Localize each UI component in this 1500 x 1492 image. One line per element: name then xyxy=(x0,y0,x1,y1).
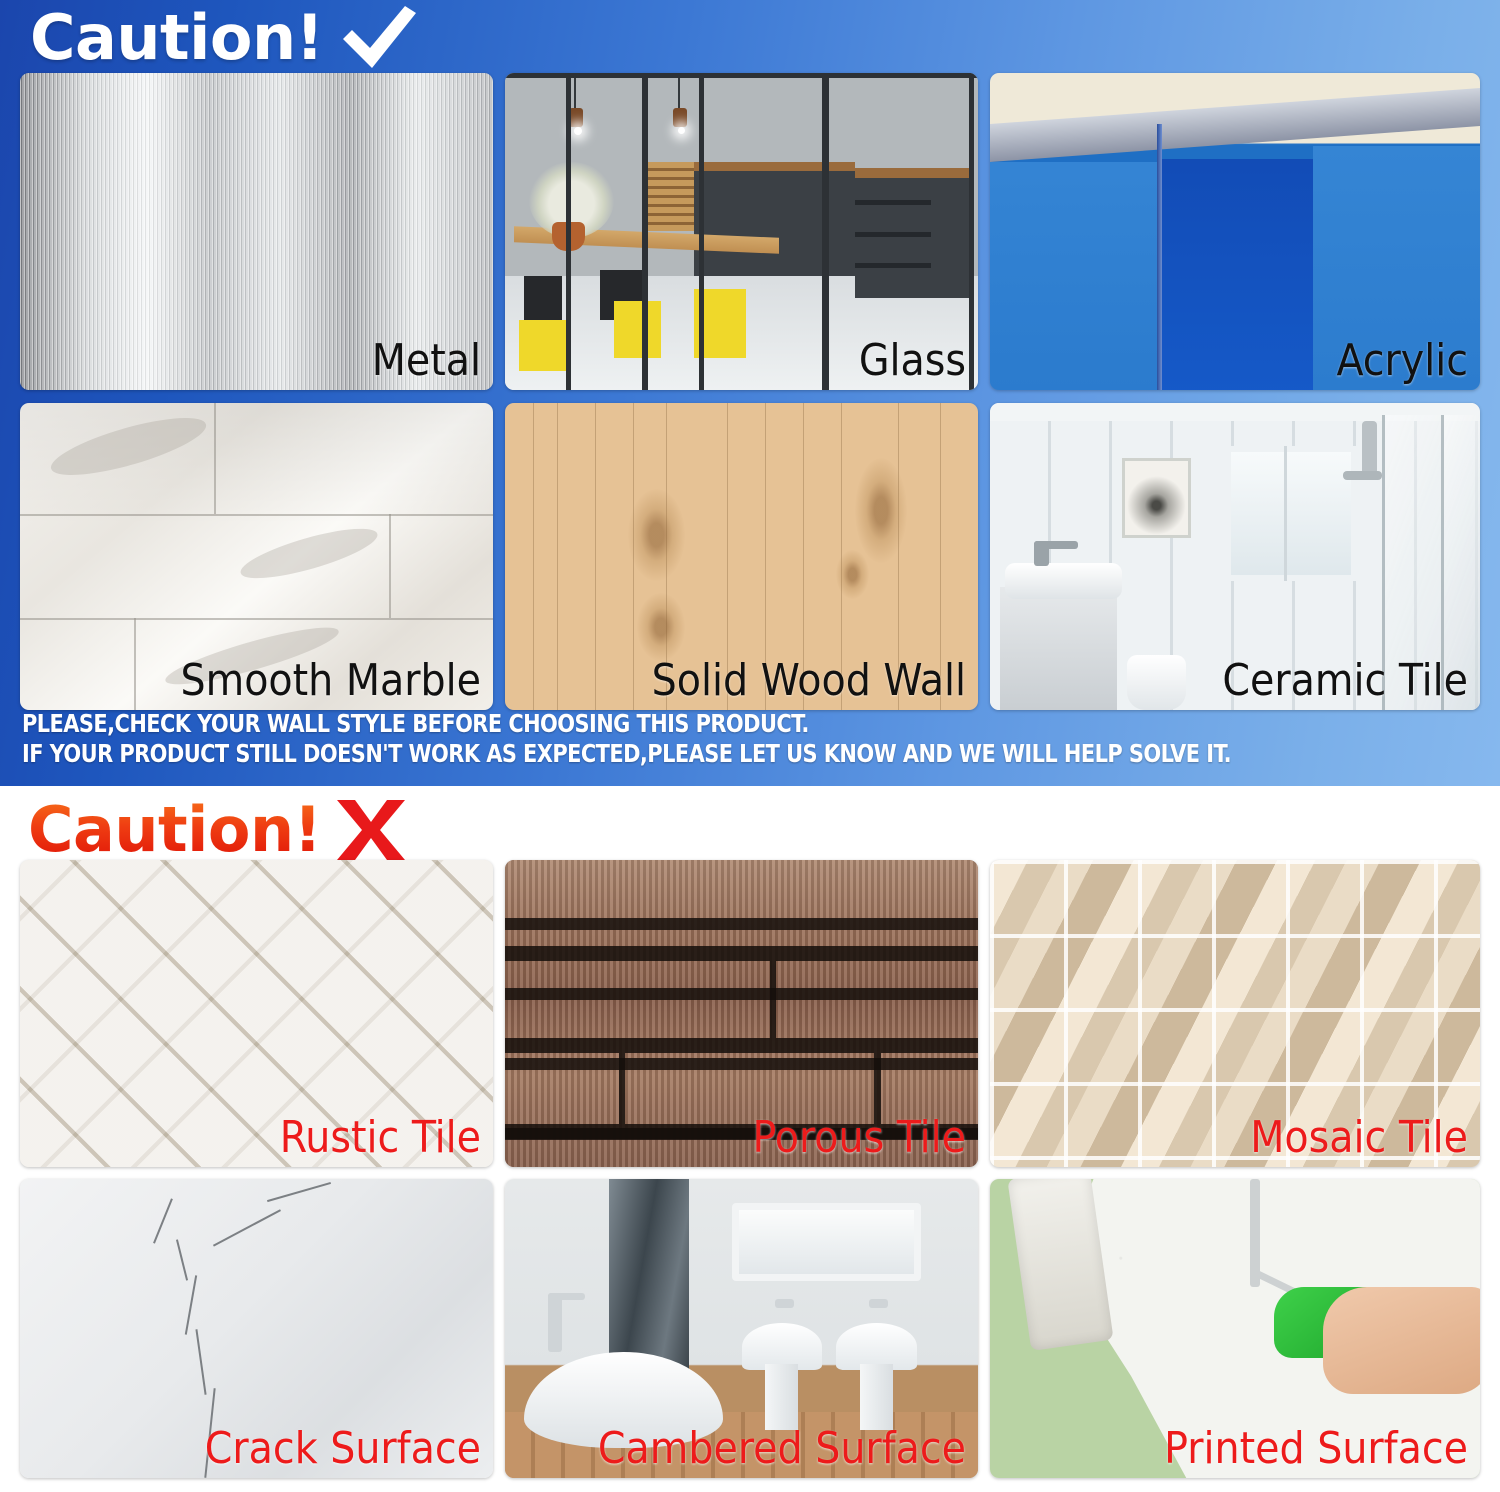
surface-label-porous-tile: Porous Tile xyxy=(753,1111,967,1165)
not-recommended-heading-text: Caution! xyxy=(28,796,321,864)
surface-label-glass: Glass xyxy=(859,334,966,388)
check-mark-icon xyxy=(339,6,417,70)
surface-label-cambered-surface: Cambered Surface xyxy=(598,1422,966,1476)
not-recommended-surfaces-section: Caution! Rustic Tile xyxy=(0,786,1500,1492)
recommended-heading-text: Caution! xyxy=(30,4,323,72)
surface-label-ceramic-tile: Ceramic Tile xyxy=(1222,654,1468,708)
recommended-tile-grid: Metal xyxy=(20,73,1482,710)
notice-line-2: IF YOUR PRODUCT STILL DOESN'T WORK AS EX… xyxy=(22,739,1380,769)
recommended-heading: Caution! xyxy=(30,4,417,72)
surface-tile-smooth-marble[interactable]: Smooth Marble xyxy=(20,403,493,710)
surface-tile-mosaic-tile[interactable]: Mosaic Tile xyxy=(990,860,1480,1167)
recommended-surfaces-section: Caution! Metal xyxy=(0,0,1500,786)
surface-tile-crack-surface[interactable]: Crack Surface xyxy=(20,1179,493,1478)
surface-label-crack-surface: Crack Surface xyxy=(205,1422,481,1476)
compatibility-notice: PLEASE,CHECK YOUR WALL STYLE BEFORE CHOO… xyxy=(22,709,1380,769)
surface-label-solid-wood-wall: Solid Wood Wall xyxy=(652,654,966,708)
surface-tile-acrylic[interactable]: Acrylic xyxy=(990,73,1480,390)
surface-tile-solid-wood-wall[interactable]: Solid Wood Wall xyxy=(505,403,978,710)
surface-tile-ceramic-tile[interactable]: Ceramic Tile xyxy=(990,403,1480,710)
surface-tile-porous-tile[interactable]: Porous Tile xyxy=(505,860,978,1167)
surface-tile-metal[interactable]: Metal xyxy=(20,73,493,390)
surface-label-printed-surface: Printed Surface xyxy=(1164,1422,1468,1476)
cross-mark-icon xyxy=(335,798,407,862)
product-compatibility-infographic: Caution! Metal xyxy=(0,0,1500,1492)
not-recommended-tile-grid: Rustic Tile Porous Tile Mosaic Tile xyxy=(20,860,1482,1478)
surface-tile-printed-surface[interactable]: Printed Surface xyxy=(990,1179,1480,1478)
notice-line-1: PLEASE,CHECK YOUR WALL STYLE BEFORE CHOO… xyxy=(22,709,1380,739)
surface-tile-glass[interactable]: Glass xyxy=(505,73,978,390)
not-recommended-heading: Caution! xyxy=(28,796,407,864)
surface-label-rustic-tile: Rustic Tile xyxy=(280,1111,481,1165)
surface-label-acrylic: Acrylic xyxy=(1336,334,1468,388)
surface-label-metal: Metal xyxy=(372,334,481,388)
surface-tile-cambered-surface[interactable]: Cambered Surface xyxy=(505,1179,978,1478)
surface-label-mosaic-tile: Mosaic Tile xyxy=(1250,1111,1468,1165)
surface-label-smooth-marble: Smooth Marble xyxy=(181,654,481,708)
surface-tile-rustic-tile[interactable]: Rustic Tile xyxy=(20,860,493,1167)
